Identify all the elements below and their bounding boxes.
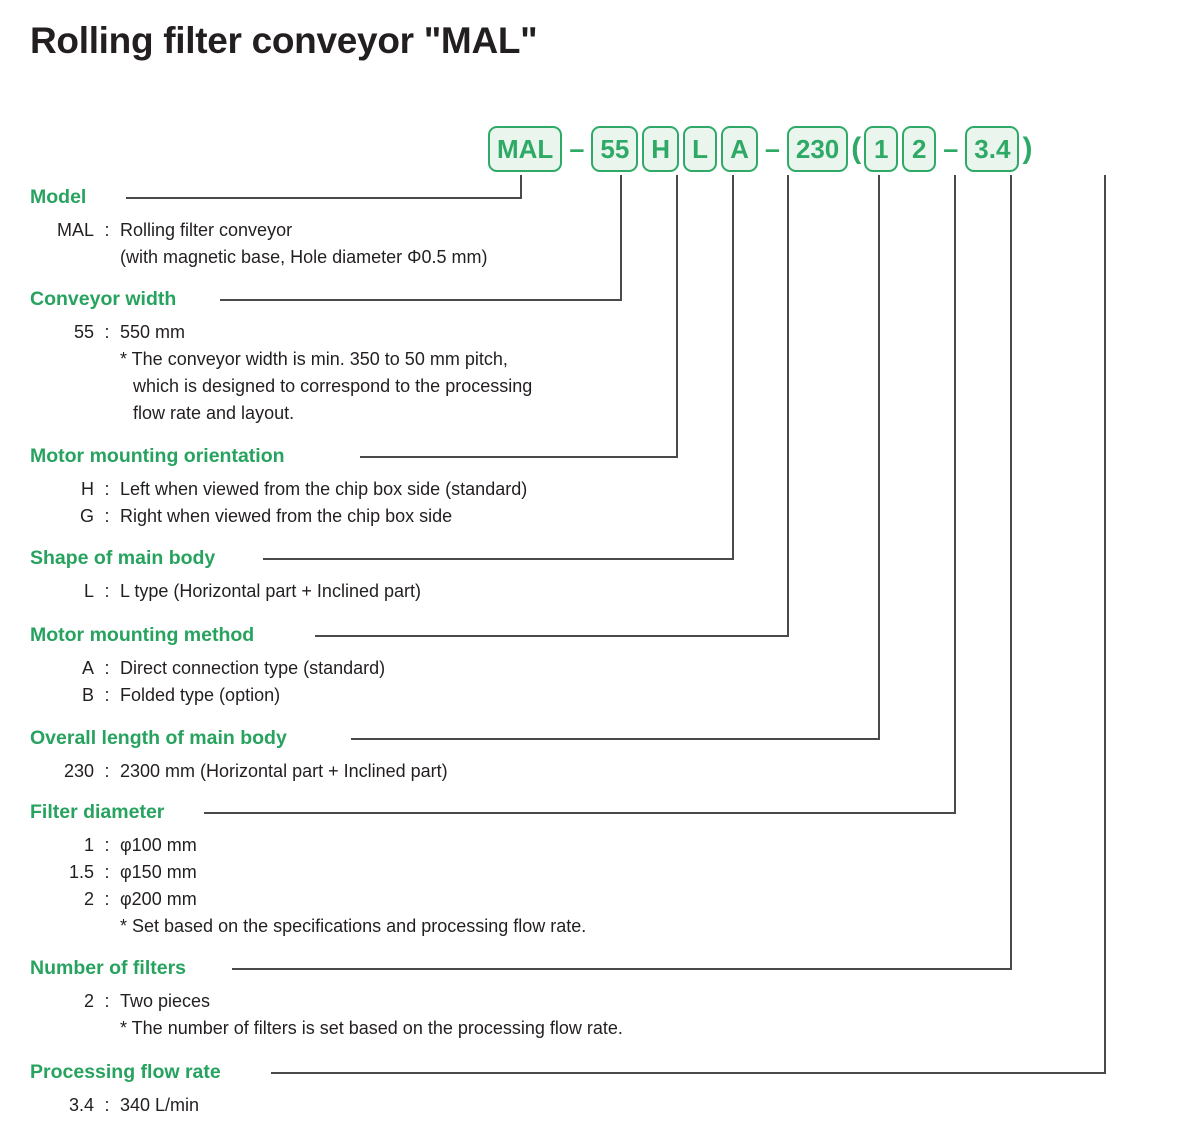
code-box-flow-rate[interactable]: 3.4 xyxy=(965,126,1019,172)
section-motor-mounting-method: Motor mounting methodA:Direct connection… xyxy=(30,626,385,709)
section-rows-model: MAL:Rolling filter conveyor(with magneti… xyxy=(30,217,488,271)
code-box-mounting-method[interactable]: A xyxy=(721,126,758,172)
section-heading-processing-flow-rate: Processing flow rate xyxy=(30,1063,221,1083)
page-title: Rolling filter conveyor "MAL" xyxy=(30,20,537,62)
section-processing-flow-rate: Processing flow rate3.4:340 L/min xyxy=(30,1063,221,1119)
option-val: L type (Horizontal part + Inclined part) xyxy=(120,578,421,605)
option-colon: : xyxy=(94,1092,120,1119)
option-val: Direct connection type (standard) xyxy=(120,655,385,682)
section-rows-shape-of-main-body: L:L type (Horizontal part + Inclined par… xyxy=(30,578,421,605)
code-option-row: MAL:Rolling filter conveyor xyxy=(30,217,488,244)
section-rows-overall-length-of-main-body: 230:2300 mm (Horizontal part + Inclined … xyxy=(30,758,448,785)
option-val: 2300 mm (Horizontal part + Inclined part… xyxy=(120,758,448,785)
code-box-model[interactable]: MAL xyxy=(488,126,562,172)
code-separator-dash-1: – xyxy=(562,136,591,163)
section-number-of-filters: Number of filters2:Two pieces* The numbe… xyxy=(30,959,623,1042)
code-option-row: 2:φ200 mm xyxy=(30,886,586,913)
option-colon: : xyxy=(94,859,120,886)
code-option-row: 1.5:φ150 mm xyxy=(30,859,586,886)
code-option-row: G:Right when viewed from the chip box si… xyxy=(30,503,527,530)
section-rows-motor-mounting-method: A:Direct connection type (standard)B:Fol… xyxy=(30,655,385,709)
code-box-number-of-filters[interactable]: 2 xyxy=(902,126,936,172)
option-val: φ100 mm xyxy=(120,832,586,859)
section-note-line: * The conveyor width is min. 350 to 50 m… xyxy=(120,346,532,373)
model-code-diagram: Rolling filter conveyor "MAL" MAL–55HLA–… xyxy=(0,0,1200,1138)
code-option-row: H:Left when viewed from the chip box sid… xyxy=(30,476,527,503)
option-colon: : xyxy=(94,503,120,530)
code-box-overall-length[interactable]: 230 xyxy=(787,126,848,172)
code-option-row: 230:2300 mm (Horizontal part + Inclined … xyxy=(30,758,448,785)
code-box-shape[interactable]: L xyxy=(683,126,717,172)
option-colon: : xyxy=(94,988,120,1015)
option-val: 340 L/min xyxy=(120,1092,221,1119)
section-filter-diameter: Filter diameter1:φ100 mm1.5:φ150 mm2:φ20… xyxy=(30,803,586,940)
code-option-row: 3.4:340 L/min xyxy=(30,1092,221,1119)
option-colon: : xyxy=(94,319,120,346)
option-key: 1.5 xyxy=(30,859,94,886)
option-colon: : xyxy=(94,832,120,859)
code-paren-open: ( xyxy=(848,134,864,164)
option-key: A xyxy=(30,655,94,682)
section-heading-overall-length-of-main-body: Overall length of main body xyxy=(30,729,448,749)
section-heading-number-of-filters: Number of filters xyxy=(30,959,623,979)
section-rows-motor-mounting-orientation: H:Left when viewed from the chip box sid… xyxy=(30,476,527,530)
section-overall-length-of-main-body: Overall length of main body230:2300 mm (… xyxy=(30,729,448,785)
option-key: 2 xyxy=(30,886,94,913)
code-box-filter-diameter[interactable]: 1 xyxy=(864,126,898,172)
section-motor-mounting-orientation: Motor mounting orientationH:Left when vi… xyxy=(30,447,527,530)
option-val: Right when viewed from the chip box side xyxy=(120,503,527,530)
option-key: 1 xyxy=(30,832,94,859)
section-conveyor-width: Conveyor width55:550 mm* The conveyor wi… xyxy=(30,290,532,427)
option-colon: : xyxy=(94,476,120,503)
option-key: G xyxy=(30,503,94,530)
section-model: ModelMAL:Rolling filter conveyor(with ma… xyxy=(30,188,488,271)
option-key: L xyxy=(30,578,94,605)
section-note-line: * Set based on the specifications and pr… xyxy=(120,913,586,940)
option-key: B xyxy=(30,682,94,709)
option-colon: : xyxy=(94,578,120,605)
option-colon: : xyxy=(94,758,120,785)
section-note-line: flow rate and layout. xyxy=(133,400,532,427)
option-colon: : xyxy=(94,682,120,709)
section-rows-conveyor-width: 55:550 mm* The conveyor width is min. 35… xyxy=(30,319,532,427)
option-key: MAL xyxy=(30,217,94,244)
option-val: Rolling filter conveyor xyxy=(120,217,488,244)
code-option-row: 2:Two pieces xyxy=(30,988,623,1015)
option-key: 55 xyxy=(30,319,94,346)
code-paren-close: ) xyxy=(1019,134,1035,164)
section-rows-number-of-filters: 2:Two pieces* The number of filters is s… xyxy=(30,988,623,1042)
option-key: H xyxy=(30,476,94,503)
code-option-row: L:L type (Horizontal part + Inclined par… xyxy=(30,578,421,605)
option-val: φ200 mm xyxy=(120,886,586,913)
section-heading-filter-diameter: Filter diameter xyxy=(30,803,586,823)
section-heading-motor-mounting-method: Motor mounting method xyxy=(30,626,385,646)
code-option-row: 55:550 mm xyxy=(30,319,532,346)
model-code-string: MAL–55HLA–230(12–3.4) xyxy=(488,124,1035,174)
section-note-line: which is designed to correspond to the p… xyxy=(133,373,532,400)
code-option-row: A:Direct connection type (standard) xyxy=(30,655,385,682)
code-option-row: 1:φ100 mm xyxy=(30,832,586,859)
code-separator-dash-3: – xyxy=(936,136,965,163)
section-note-line: * The number of filters is set based on … xyxy=(120,1015,623,1042)
option-key: 230 xyxy=(30,758,94,785)
option-colon: : xyxy=(94,886,120,913)
option-colon: : xyxy=(94,217,120,244)
option-val: 550 mm xyxy=(120,319,532,346)
section-heading-conveyor-width: Conveyor width xyxy=(30,290,532,310)
section-rows-processing-flow-rate: 3.4:340 L/min xyxy=(30,1092,221,1119)
section-note-line: (with magnetic base, Hole diameter Φ0.5 … xyxy=(120,244,488,271)
option-val: Two pieces xyxy=(120,988,623,1015)
code-separator-dash-2: – xyxy=(758,136,787,163)
option-key: 2 xyxy=(30,988,94,1015)
section-shape-of-main-body: Shape of main bodyL:L type (Horizontal p… xyxy=(30,549,421,605)
option-colon: : xyxy=(94,655,120,682)
code-box-motor-orientation[interactable]: H xyxy=(642,126,679,172)
option-val: φ150 mm xyxy=(120,859,586,886)
code-box-conveyor-width[interactable]: 55 xyxy=(591,126,638,172)
section-heading-shape-of-main-body: Shape of main body xyxy=(30,549,421,569)
section-heading-model: Model xyxy=(30,188,488,208)
option-val: Left when viewed from the chip box side … xyxy=(120,476,527,503)
option-val: Folded type (option) xyxy=(120,682,385,709)
section-heading-motor-mounting-orientation: Motor mounting orientation xyxy=(30,447,527,467)
option-key: 3.4 xyxy=(30,1092,94,1119)
code-option-row: B:Folded type (option) xyxy=(30,682,385,709)
section-rows-filter-diameter: 1:φ100 mm1.5:φ150 mm2:φ200 mm* Set based… xyxy=(30,832,586,940)
